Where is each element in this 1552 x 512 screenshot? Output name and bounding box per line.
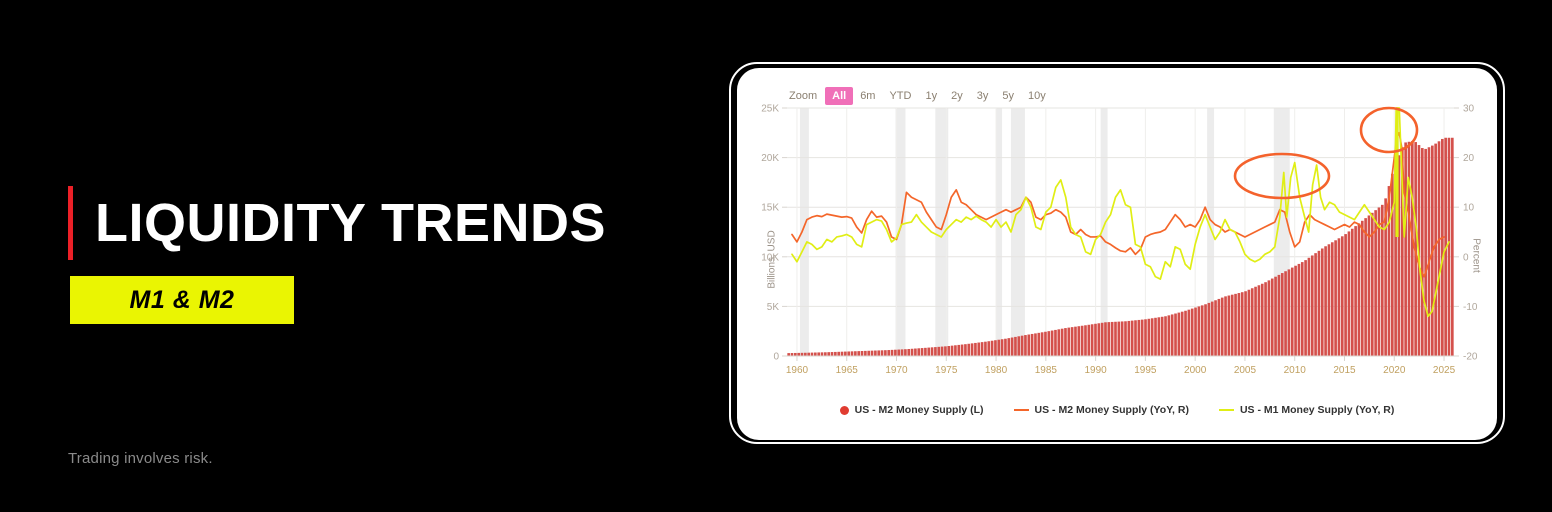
svg-text:1995: 1995 [1134, 365, 1157, 376]
svg-text:1965: 1965 [836, 365, 859, 376]
y-axis-left-ticks: 05K10K15K20K25K [761, 104, 787, 363]
svg-text:1980: 1980 [985, 365, 1008, 376]
legend-label: US - M2 Money Supply (YoY, R) [1035, 404, 1189, 416]
promo-banner: LIQUIDITY TRENDS M1 & M2 Trading involve… [0, 0, 1552, 512]
legend-item-m2-level[interactable]: US - M2 Money Supply (L) [840, 404, 984, 416]
x-axis-ticks: 1960196519701975198019851990199520002005… [786, 356, 1456, 376]
svg-text:1970: 1970 [885, 365, 908, 376]
svg-text:25K: 25K [761, 104, 779, 115]
svg-text:2015: 2015 [1333, 365, 1356, 376]
svg-text:10: 10 [1463, 203, 1475, 214]
svg-text:1985: 1985 [1035, 365, 1058, 376]
legend-item-m2-yoy[interactable]: US - M2 Money Supply (YoY, R) [1014, 404, 1189, 416]
yoy-lines [792, 108, 1449, 316]
legend-marker-line-icon [1014, 409, 1029, 412]
chart-panel: Zoom All 6m YTD 1y 2y 3y 5y 10y Billions… [737, 68, 1497, 440]
legend-label: US - M2 Money Supply (L) [855, 404, 984, 416]
svg-text:20: 20 [1463, 153, 1475, 164]
legend-marker-dot-icon [840, 406, 849, 415]
svg-text:0: 0 [773, 352, 779, 363]
page-title: LIQUIDITY TRENDS [95, 186, 606, 260]
legend-marker-line-icon [1219, 409, 1234, 412]
svg-text:2025: 2025 [1433, 365, 1456, 376]
subtitle-badge: M1 & M2 [70, 276, 294, 324]
svg-text:1975: 1975 [935, 365, 958, 376]
svg-text:30: 30 [1463, 104, 1475, 115]
title-block: LIQUIDITY TRENDS [68, 186, 606, 260]
svg-text:20K: 20K [761, 153, 779, 164]
svg-text:10K: 10K [761, 252, 779, 263]
svg-text:5K: 5K [767, 302, 780, 313]
svg-text:0: 0 [1463, 252, 1469, 263]
svg-text:15K: 15K [761, 203, 779, 214]
svg-text:2010: 2010 [1284, 365, 1307, 376]
svg-text:2005: 2005 [1234, 365, 1257, 376]
svg-text:1990: 1990 [1084, 365, 1107, 376]
legend-item-m1-yoy[interactable]: US - M1 Money Supply (YoY, R) [1219, 404, 1394, 416]
svg-text:-10: -10 [1463, 302, 1478, 313]
legend-label: US - M1 Money Supply (YoY, R) [1240, 404, 1394, 416]
title-accent-bar [68, 186, 73, 260]
svg-text:2020: 2020 [1383, 365, 1406, 376]
m2-level-bars [787, 138, 1453, 356]
chart-legend: US - M2 Money Supply (L) US - M2 Money S… [737, 404, 1497, 416]
chart-annotations [1235, 108, 1417, 198]
svg-text:1960: 1960 [786, 365, 809, 376]
y-axis-right-ticks: -20-100102030 [1454, 104, 1478, 363]
subtitle-badge-label: M1 & M2 [130, 286, 235, 315]
chart-plot[interactable]: 05K10K15K20K25K -20-100102030 1960196519… [737, 68, 1497, 404]
hero-panel: LIQUIDITY TRENDS M1 & M2 Trading involve… [0, 0, 720, 512]
disclaimer-text: Trading involves risk. [68, 450, 213, 467]
svg-text:-20: -20 [1463, 352, 1478, 363]
svg-text:2000: 2000 [1184, 365, 1207, 376]
